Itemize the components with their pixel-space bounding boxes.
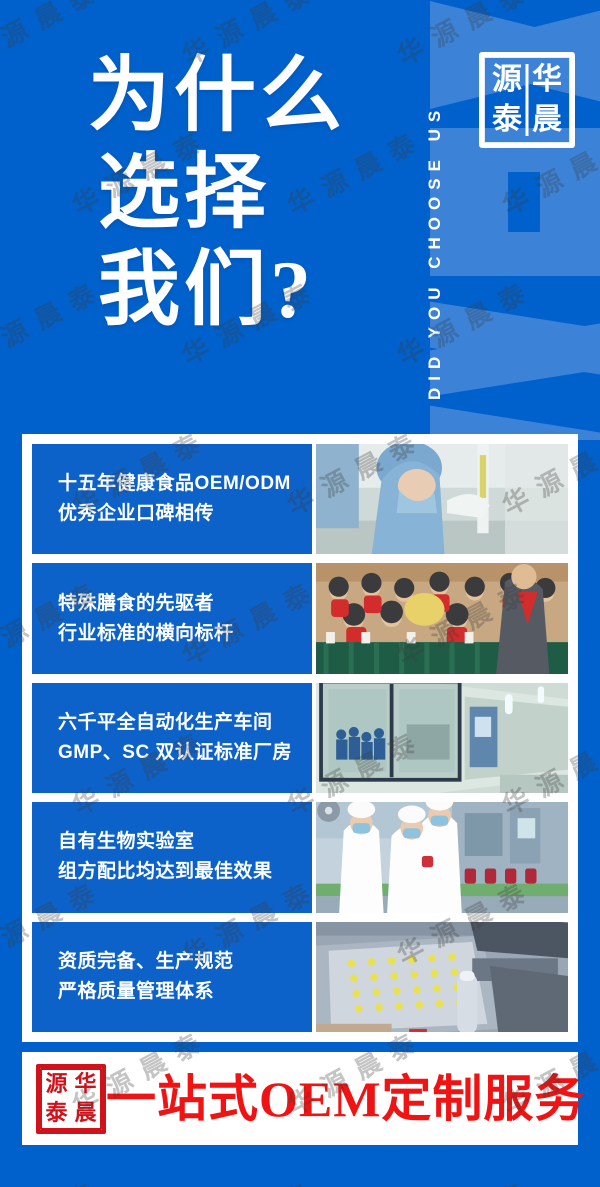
- feature-line: 优秀企业口碑相传: [58, 499, 312, 529]
- page-title-line-1: 为什么: [88, 48, 388, 145]
- banner-seal-char-4: 泰: [42, 1099, 71, 1128]
- seal-char-1: 华: [527, 60, 567, 100]
- watermark-text: 华源晨泰: [0, 419, 2, 523]
- seal-divider: [526, 64, 529, 136]
- banner-seal-char-1: 华: [71, 1070, 100, 1099]
- feature-line: 组方配比均达到最佳效果: [58, 857, 312, 887]
- content-frame: 十五年健康食品OEM/ODM 优秀企业口碑相传: [22, 434, 578, 1042]
- why-letter-h-stroke: [430, 232, 600, 276]
- feature-line: 行业标准的横向标杆: [58, 619, 312, 649]
- photo-conference-audience: [316, 563, 568, 673]
- feature-card: 自有生物实验室 组方配比均达到最佳效果: [32, 802, 568, 912]
- banner-seal-char-3: 晨: [71, 1099, 100, 1128]
- feature-line: 特殊膳食的先驱者: [58, 589, 312, 619]
- feature-line: 自有生物实验室: [58, 827, 312, 857]
- feature-card: 六千平全自动化生产车间 GMP、SC 双认证标准厂房: [32, 683, 568, 793]
- watermark-text: 华源晨泰: [390, 1169, 542, 1187]
- banner-seal-icon: 华 源 晨 泰: [36, 1064, 106, 1134]
- photo-tablet-packaging-machine: [316, 922, 568, 1032]
- watermark-text: 华源晨泰: [175, 1169, 327, 1187]
- feature-line: 严格质量管理体系: [58, 977, 312, 1007]
- page-title: 为什么 选择 我们?: [88, 48, 388, 338]
- why-letter-h-stroke: [540, 172, 600, 232]
- watermark-text: 华源晨泰: [0, 719, 2, 823]
- why-letter-w-stroke: [430, 319, 600, 398]
- why-letter-w-stroke: [430, 300, 600, 379]
- feature-card: 十五年健康食品OEM/ODM 优秀企业口碑相传: [32, 444, 568, 554]
- feature-card-list: 十五年健康食品OEM/ODM 优秀企业口碑相传: [32, 444, 568, 1032]
- feature-card-text: 特殊膳食的先驱者 行业标准的横向标杆: [32, 563, 312, 673]
- seal-char-4: 泰: [487, 100, 527, 140]
- feature-card-text: 十五年健康食品OEM/ODM 优秀企业口碑相传: [32, 444, 312, 554]
- feature-card: 特殊膳食的先驱者 行业标准的横向标杆: [32, 563, 568, 673]
- vertical-tagline: DID YOU CHOOSE US: [418, 0, 452, 400]
- feature-card: 资质完备、生产规范 严格质量管理体系: [32, 922, 568, 1032]
- page-title-line-2: 选择: [88, 145, 388, 242]
- seal-char-2: 源: [487, 60, 527, 100]
- poster-root: 为什么 选择 我们? DID YOU CHOOSE US 华 源 晨 泰 十五年…: [0, 0, 600, 1187]
- feature-line: GMP、SC 双认证标准厂房: [58, 738, 312, 768]
- watermark-text: 华源晨泰: [0, 1169, 112, 1187]
- photo-lab-technician-inspecting-vial: [316, 444, 568, 554]
- bottom-banner: 华 源 晨 泰 一站式OEM定制服务: [22, 1052, 578, 1145]
- watermark-text: 华源晨泰: [390, 269, 542, 373]
- feature-card-text: 自有生物实验室 组方配比均达到最佳效果: [32, 802, 312, 912]
- feature-line: 十五年健康食品OEM/ODM: [58, 469, 312, 499]
- photo-production-line-staff: [316, 802, 568, 912]
- brand-seal-icon: 华 源 晨 泰: [479, 52, 575, 148]
- banner-slogan: 一站式OEM定制服务: [106, 1074, 589, 1124]
- feature-card-text: 六千平全自动化生产车间 GMP、SC 双认证标准厂房: [32, 683, 312, 793]
- feature-line: 资质完备、生产规范: [58, 947, 312, 977]
- watermark-text: 华源晨泰: [0, 119, 2, 223]
- photo-cleanroom-corridor: [316, 683, 568, 793]
- seal-char-3: 晨: [527, 100, 567, 140]
- watermark-text: 华源晨泰: [0, 1019, 2, 1123]
- feature-line: 六千平全自动化生产车间: [58, 708, 312, 738]
- banner-seal-char-2: 源: [42, 1070, 71, 1099]
- page-title-line-3: 我们?: [88, 242, 388, 339]
- feature-card-text: 资质完备、生产规范 严格质量管理体系: [32, 922, 312, 1032]
